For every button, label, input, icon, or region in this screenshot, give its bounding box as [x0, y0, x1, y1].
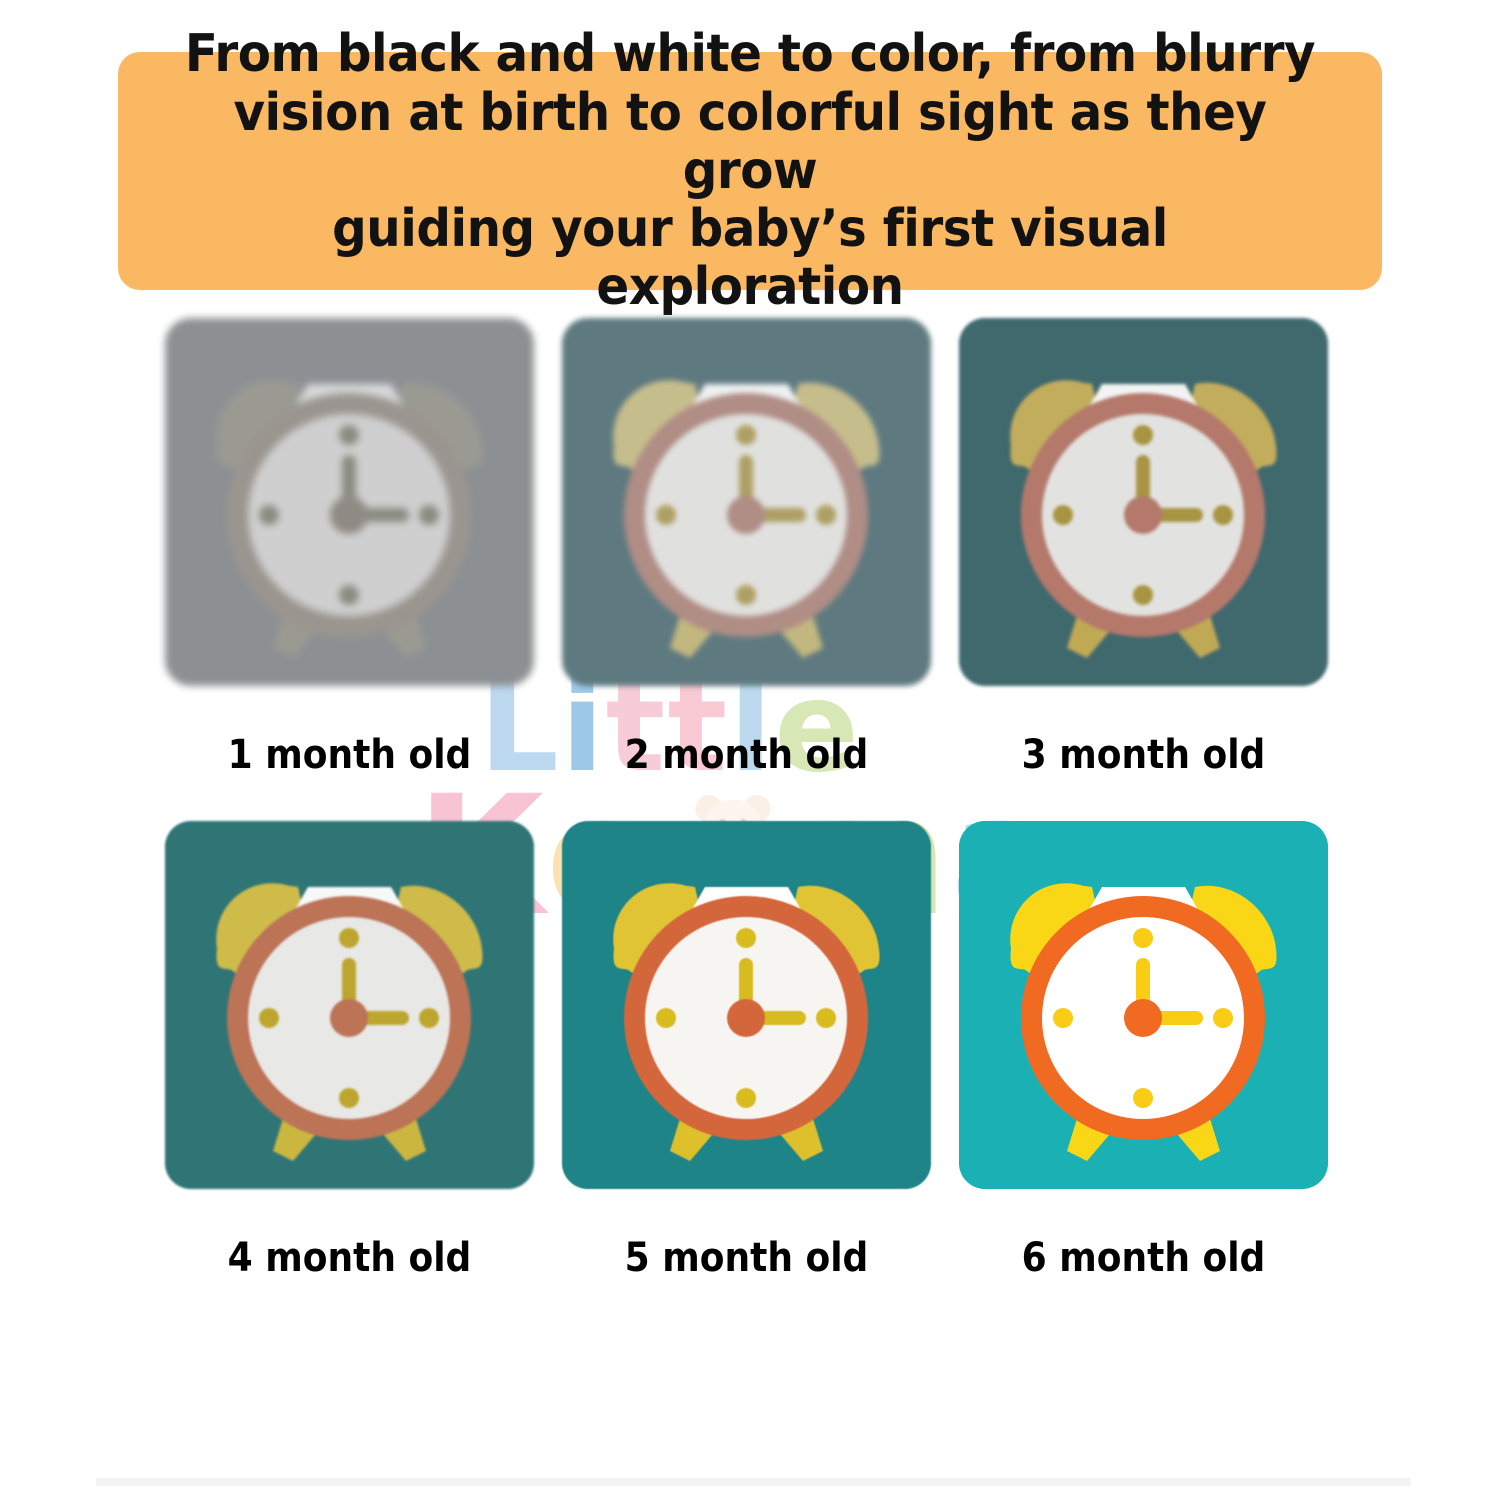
- grid-cell-month-6[interactable]: 6 month old: [959, 821, 1328, 1291]
- grid-cell-month-1[interactable]: 1 month old: [165, 318, 534, 788]
- title-banner: From black and white to color, from blur…: [118, 52, 1382, 290]
- grid-row-2: 4 month old 5 month old: [165, 821, 1328, 1291]
- bottom-divider: [96, 1478, 1411, 1486]
- alarm-clock-icon: [959, 318, 1328, 686]
- clock-tile-month-5[interactable]: [562, 821, 931, 1189]
- grid-cell-month-3[interactable]: 3 month old: [959, 318, 1328, 788]
- caption-month-6: 6 month old: [977, 1225, 1309, 1291]
- alarm-clock-icon: [562, 318, 931, 686]
- caption-month-1: 1 month old: [183, 722, 515, 788]
- alarm-clock-icon: [959, 821, 1328, 1189]
- grid-cell-month-4[interactable]: 4 month old: [165, 821, 534, 1291]
- clock-grid: 1 month old 2 month old: [165, 318, 1328, 1291]
- caption-month-4: 4 month old: [183, 1225, 515, 1291]
- grid-cell-month-5[interactable]: 5 month old: [562, 821, 931, 1291]
- caption-month-5: 5 month old: [580, 1225, 912, 1291]
- clock-tile-month-1[interactable]: [165, 318, 534, 686]
- alarm-clock-icon: [165, 318, 534, 686]
- clock-tile-month-4[interactable]: [165, 821, 534, 1189]
- row-spacer: [165, 788, 1328, 821]
- clock-tile-month-3[interactable]: [959, 318, 1328, 686]
- caption-month-3: 3 month old: [977, 722, 1309, 788]
- clock-tile-month-2[interactable]: [562, 318, 931, 686]
- alarm-clock-icon: [165, 821, 534, 1189]
- alarm-clock-icon: [562, 821, 931, 1189]
- caption-month-2: 2 month old: [580, 722, 912, 788]
- grid-row-1: 1 month old 2 month old: [165, 318, 1328, 788]
- page-title: From black and white to color, from blur…: [162, 25, 1338, 316]
- grid-cell-month-2[interactable]: 2 month old: [562, 318, 931, 788]
- clock-tile-month-6[interactable]: [959, 821, 1328, 1189]
